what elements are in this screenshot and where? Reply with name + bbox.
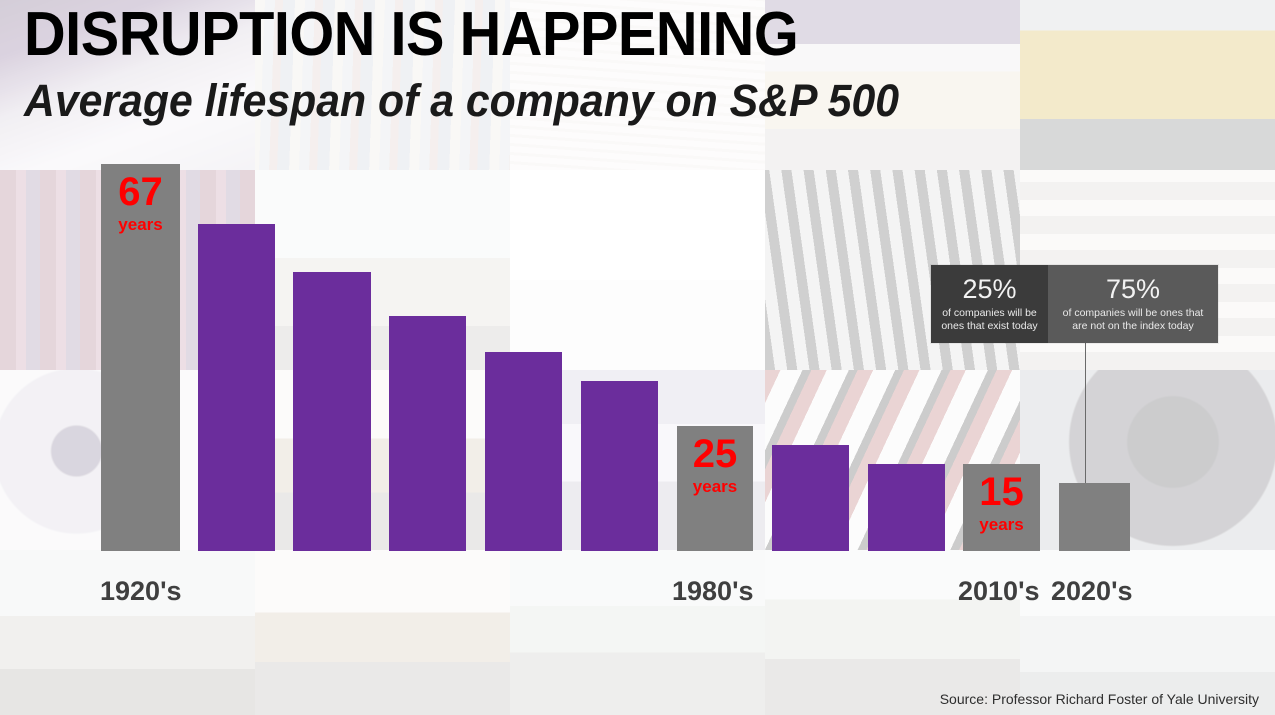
page-subtitle: Average lifespan of a company on S&P 500 [24,78,899,123]
bar-1970s [581,381,658,551]
callout-box: 25% of companies will be ones that exist… [931,265,1218,343]
callout-right-half: 75% of companies will be ones that are n… [1048,265,1218,343]
header: DISRUPTION IS HAPPENING Average lifespan… [24,4,945,123]
bar-1990s [772,445,849,551]
bar-value-unit: years [101,216,180,233]
callout-right-text: of companies will be ones that are not o… [1054,307,1212,333]
bar-1950s [389,316,466,551]
x-axis-label-2020s: 2020's [1051,576,1133,607]
callout-left-percent: 25% [962,276,1016,303]
source-attribution: Source: Professor Richard Foster of Yale… [940,691,1259,707]
x-axis-label-1980s: 1980's [672,576,754,607]
bar-value-number: 25 [677,434,753,474]
page-title: DISRUPTION IS HAPPENING [24,4,881,66]
callout-right-percent: 75% [1106,276,1160,303]
bar-2000s [868,464,945,551]
bar-value-unit: years [963,516,1040,533]
callout-leader-line [1085,343,1086,483]
bar-2010s: 15years [963,464,1040,551]
bar-1980s: 25years [677,426,753,551]
bar-value-number: 67 [101,172,180,212]
bar-value-number: 15 [963,472,1040,512]
bar-value-unit: years [677,478,753,495]
slide-canvas: DISRUPTION IS HAPPENING Average lifespan… [0,0,1275,715]
bar-1930s [198,224,275,551]
x-axis-label-2010s: 2010's [958,576,1040,607]
bar-1920s: 67years [101,164,180,551]
callout-left-text: of companies will be ones that exist tod… [937,307,1042,333]
x-axis-label-1920s: 1920's [100,576,182,607]
bar-1940s [293,272,371,551]
bar-2020s [1059,483,1130,551]
callout-left-half: 25% of companies will be ones that exist… [931,265,1048,343]
bar-1960s [485,352,562,551]
